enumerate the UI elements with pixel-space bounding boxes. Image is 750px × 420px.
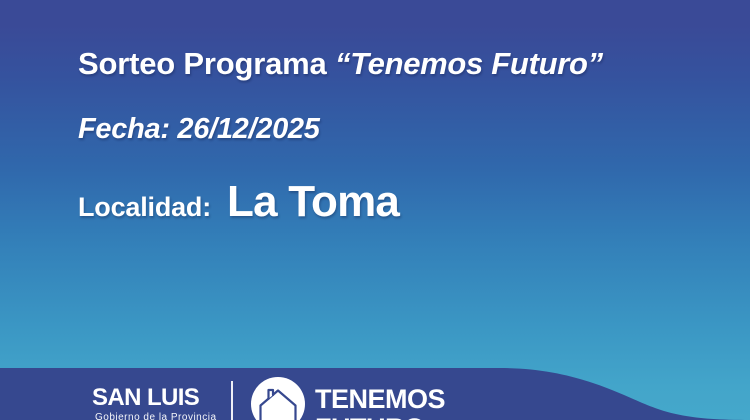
poster-locality-label: Localidad: bbox=[78, 194, 211, 221]
brand-bar: SAN LUIS Gobierno de la Provincia TENEMO… bbox=[0, 368, 750, 420]
brand-province-name: SAN LUIS bbox=[92, 384, 199, 412]
poster-canvas: Sorteo Programa “Tenemos Futuro” Fecha: … bbox=[0, 0, 750, 420]
house-icon bbox=[250, 376, 306, 420]
brand-divider bbox=[231, 381, 233, 420]
brand-program-line1: TENEMOS bbox=[315, 384, 445, 415]
brand-bar-content: SAN LUIS Gobierno de la Provincia TENEMO… bbox=[0, 368, 750, 420]
poster-title-program-name: “Tenemos Futuro” bbox=[335, 46, 603, 81]
poster-title: Sorteo Programa “Tenemos Futuro” bbox=[78, 48, 718, 79]
poster-date-line: Fecha: 26/12/2025 bbox=[78, 115, 718, 144]
poster-copy-block: Sorteo Programa “Tenemos Futuro” Fecha: … bbox=[78, 48, 718, 224]
brand-program-line2: FUTURO bbox=[315, 413, 424, 420]
poster-title-prefix: Sorteo Programa bbox=[78, 46, 335, 81]
brand-province-subtitle: Gobierno de la Provincia bbox=[95, 412, 217, 420]
poster-locality-value: La Toma bbox=[227, 180, 399, 224]
poster-locality-line: Localidad: La Toma bbox=[78, 180, 718, 224]
